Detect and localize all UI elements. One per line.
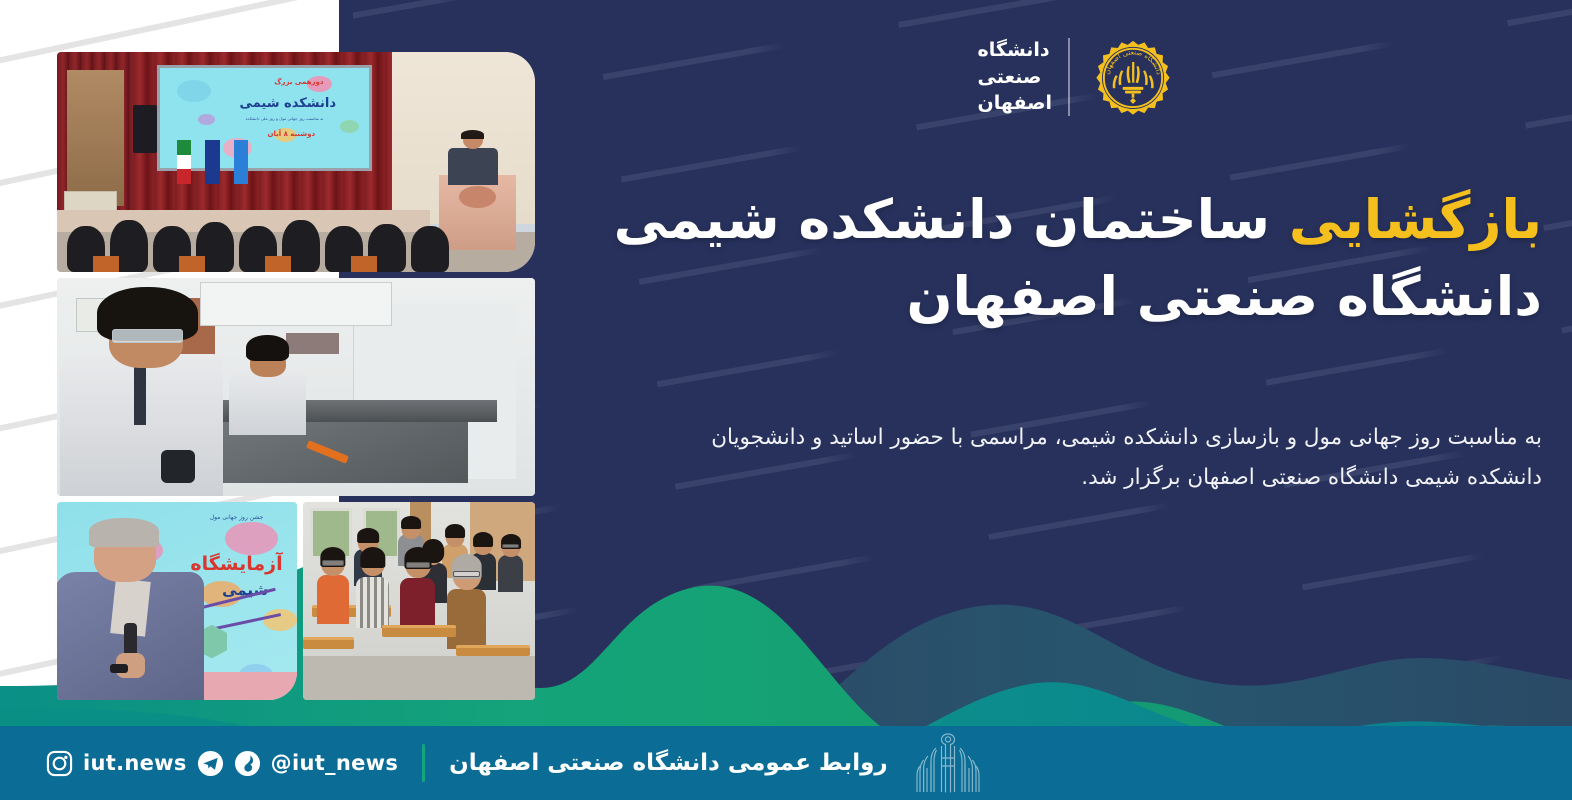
photo-chemistry-laboratory (57, 278, 535, 496)
poster-date: دوشنبه ۸ آبان (268, 130, 316, 138)
brand-divider (1068, 38, 1070, 116)
brand-name-line-3: اصفهان (978, 90, 1052, 117)
public-relations-label: روابط عمومی دانشگاه صنعتی اصفهان (449, 750, 887, 776)
student (356, 550, 388, 621)
poster-note: به مناسبت روز جهانی مول و روز ملی دانشکد… (246, 116, 324, 121)
student (498, 536, 524, 587)
photo-students-in-classroom (303, 502, 535, 700)
iut-monument-icon (910, 732, 986, 794)
instagram-icon[interactable] (46, 750, 73, 777)
banner-canvas: دورهمی بزرگ دانشکده شیمی به مناسبت روز ج… (0, 0, 1572, 800)
messenger-handle[interactable]: @iut_news (271, 751, 398, 775)
photo-auditorium-opening-ceremony: دورهمی بزرگ دانشکده شیمی به مناسبت روز ج… (57, 52, 535, 272)
headline-line-1: بازگشایی ساختمان دانشکده شیمی (557, 182, 1542, 259)
brand-name-line-1: دانشگاه (978, 37, 1052, 64)
photo-speaker-at-podium: جشن روز جهانی مول آزمایشگاه شیمی (57, 502, 297, 700)
brand-name: دانشگاه صنعتی اصفهان (978, 37, 1052, 118)
student (317, 550, 349, 617)
speaker-figure (62, 518, 196, 700)
eitaa-icon[interactable] (234, 750, 261, 777)
iut-gear-seal-icon: دانشگاه صنعتی اصفهان (1086, 30, 1180, 124)
student (400, 550, 435, 625)
lab-researcher-background (229, 335, 305, 435)
lab-researcher-foreground (67, 287, 220, 496)
page-title: بازگشایی ساختمان دانشکده شیمی دانشگاه صن… (557, 182, 1542, 335)
brand-name-line-2: صنعتی (978, 64, 1052, 91)
poster-title-top: دورهمی بزرگ (274, 78, 323, 86)
subtitle-line-2: دانشکده شیمی دانشگاه صنعتی اصفهان برگزار… (557, 458, 1542, 498)
headline-line-2: دانشگاه صنعتی اصفهان (557, 259, 1542, 336)
subtitle-line-1: به مناسبت روز جهانی مول و بازسازی دانشکد… (557, 418, 1542, 458)
social-links: iut.news @iut_news (46, 750, 398, 777)
telegram-icon[interactable] (197, 750, 224, 777)
podium-poster-note: جشن روز جهانی مول (210, 514, 264, 521)
subtitle: به مناسبت روز جهانی مول و بازسازی دانشکد… (557, 418, 1542, 498)
podium-poster-title: آزمایشگاه (190, 553, 282, 575)
brand-lockup: دانشگاه صنعتی اصفهان (978, 30, 1180, 124)
headline-highlight: بازگشایی (1289, 188, 1542, 251)
poster-title-main: دانشکده شیمی (240, 96, 336, 111)
footer-divider (422, 744, 425, 782)
instagram-handle[interactable]: iut.news (83, 751, 187, 775)
footer-bar: iut.news @iut_news روابط (0, 726, 1572, 800)
audience-rows (57, 210, 535, 272)
headline-rest: ساختمان دانشکده شیمی (614, 188, 1289, 251)
